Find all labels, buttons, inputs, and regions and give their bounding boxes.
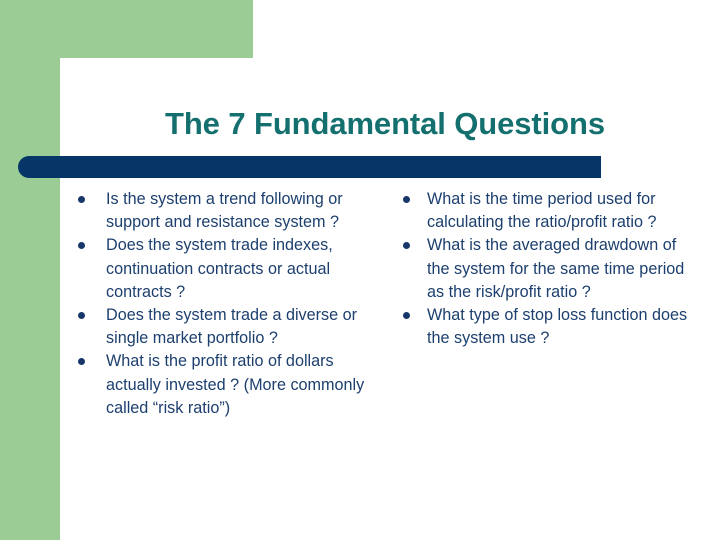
bullet-list-right: What is the time period used for calcula… bbox=[400, 188, 698, 350]
list-item-text: Does the system trade a diverse or singl… bbox=[106, 306, 357, 347]
bullet-dot-icon bbox=[78, 196, 85, 203]
bullet-dot-icon bbox=[78, 358, 85, 365]
bullet-dot-icon bbox=[403, 242, 410, 249]
list-item: What is the time period used for calcula… bbox=[400, 188, 698, 234]
bullet-column-left: Is the system a trend following or suppo… bbox=[75, 188, 387, 420]
body-columns: Is the system a trend following or suppo… bbox=[0, 188, 720, 518]
list-item: Does the system trade a diverse or singl… bbox=[75, 304, 387, 350]
list-item-text: Does the system trade indexes, continuat… bbox=[106, 236, 333, 300]
bullet-dot-icon bbox=[78, 242, 85, 249]
bullet-dot-icon bbox=[403, 312, 410, 319]
list-item-text: What type of stop loss function does the… bbox=[427, 306, 687, 347]
bullet-dot-icon bbox=[403, 196, 410, 203]
bullet-dot-icon bbox=[78, 312, 85, 319]
slide-canvas: The 7 Fundamental Questions Is the syste… bbox=[0, 0, 720, 540]
list-item-text: What is the time period used for calcula… bbox=[427, 190, 656, 231]
list-item: What is the averaged drawdown of the sys… bbox=[400, 234, 698, 304]
bullet-column-right: What is the time period used for calcula… bbox=[400, 188, 698, 350]
list-item-text: What is the profit ratio of dollars actu… bbox=[106, 352, 364, 416]
list-item: What is the profit ratio of dollars actu… bbox=[75, 350, 387, 420]
title-area: The 7 Fundamental Questions bbox=[60, 98, 710, 150]
list-item: Does the system trade indexes, continuat… bbox=[75, 234, 387, 304]
list-item: What type of stop loss function does the… bbox=[400, 304, 698, 350]
list-item-text: Is the system a trend following or suppo… bbox=[106, 190, 343, 231]
list-item: Is the system a trend following or suppo… bbox=[75, 188, 387, 234]
title-underline-bar bbox=[18, 156, 601, 178]
list-item-text: What is the averaged drawdown of the sys… bbox=[427, 236, 684, 300]
bullet-list-left: Is the system a trend following or suppo… bbox=[75, 188, 387, 420]
page-title: The 7 Fundamental Questions bbox=[165, 107, 605, 141]
